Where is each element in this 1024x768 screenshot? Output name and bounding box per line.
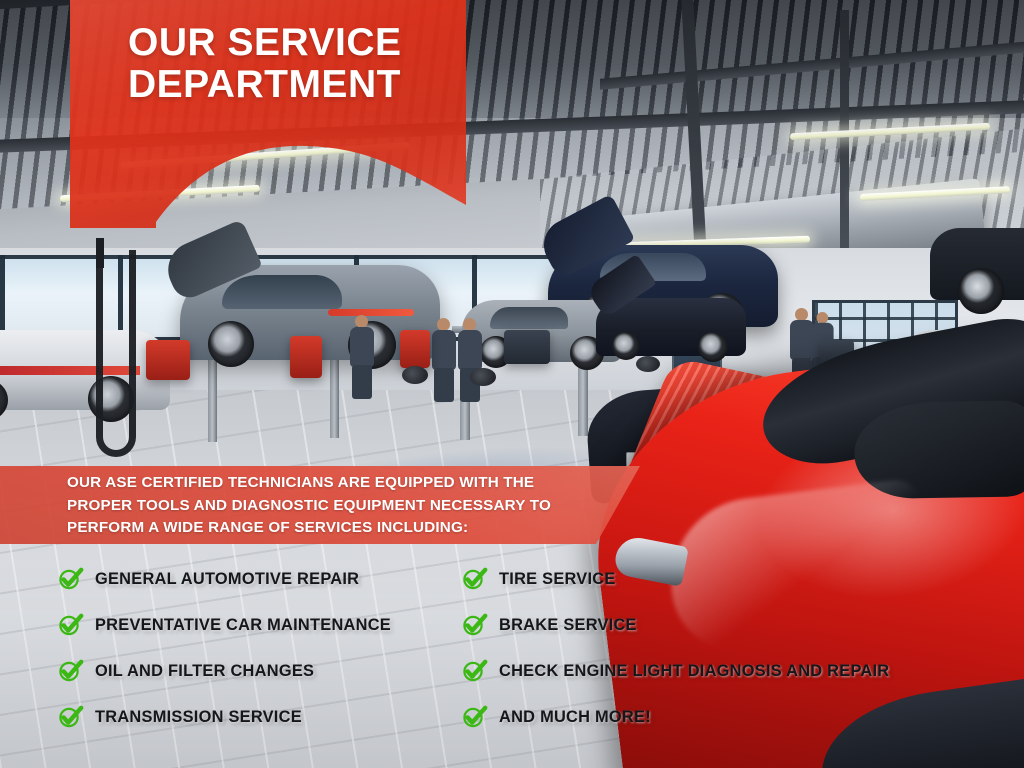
wheel bbox=[208, 321, 254, 367]
service-item: GENERAL AUTOMOTIVE REPAIR bbox=[58, 567, 462, 591]
service-item-label: TIRE SERVICE bbox=[499, 570, 616, 589]
service-item: PREVENTATIVE CAR MAINTENANCE bbox=[58, 613, 462, 637]
car-black-on-stand bbox=[930, 228, 1024, 300]
service-item-label: BRAKE SERVICE bbox=[499, 616, 637, 635]
check-circle-icon bbox=[58, 659, 84, 683]
service-item-label: GENERAL AUTOMOTIVE REPAIR bbox=[95, 570, 359, 589]
service-item-label: OIL AND FILTER CHANGES bbox=[95, 662, 314, 681]
car-window bbox=[490, 307, 568, 329]
check-circle-icon bbox=[58, 613, 84, 637]
car-black-wagon bbox=[596, 298, 746, 356]
service-item-label: CHECK ENGINE LIGHT DIAGNOSIS AND REPAIR bbox=[499, 662, 889, 681]
tail-light-bar bbox=[328, 309, 414, 316]
car-window bbox=[222, 275, 342, 309]
workbench bbox=[504, 330, 550, 364]
service-item-label: TRANSMISSION SERVICE bbox=[95, 708, 302, 727]
wheel bbox=[698, 332, 728, 362]
service-department-poster: EB 2Ω UA OUR SERVICE DEPARTMENT OUR ASE … bbox=[0, 0, 1024, 768]
service-item: BRAKE SERVICE bbox=[462, 613, 1008, 637]
service-item: AND MUCH MORE! bbox=[462, 705, 1008, 729]
page-title: OUR SERVICE DEPARTMENT bbox=[128, 22, 458, 106]
check-circle-icon bbox=[462, 705, 488, 729]
service-item-label: PREVENTATIVE CAR MAINTENANCE bbox=[95, 616, 391, 635]
services-list: GENERAL AUTOMOTIVE REPAIRTIRE SERVICEPRE… bbox=[58, 556, 1008, 746]
service-item: TRANSMISSION SERVICE bbox=[58, 705, 462, 729]
lift-post bbox=[330, 352, 339, 438]
lift-post bbox=[208, 352, 217, 442]
service-item: OIL AND FILTER CHANGES bbox=[58, 659, 462, 683]
exhaust-extraction-hose bbox=[96, 250, 136, 457]
check-circle-icon bbox=[58, 567, 84, 591]
check-circle-icon bbox=[462, 613, 488, 637]
service-item: TIRE SERVICE bbox=[462, 567, 1008, 591]
tire bbox=[402, 366, 428, 384]
wheel bbox=[958, 268, 1004, 314]
tool-cart bbox=[400, 330, 430, 368]
service-item: CHECK ENGINE LIGHT DIAGNOSIS AND REPAIR bbox=[462, 659, 1008, 683]
check-circle-icon bbox=[462, 659, 488, 683]
tool-cart bbox=[146, 340, 190, 380]
tire bbox=[470, 368, 496, 386]
description-text: OUR ASE CERTIFIED TECHNICIANS ARE EQUIPP… bbox=[67, 472, 627, 540]
wheel bbox=[612, 332, 640, 360]
tool-cart bbox=[290, 336, 322, 378]
car-white-classic bbox=[0, 330, 170, 410]
check-circle-icon bbox=[58, 705, 84, 729]
check-circle-icon bbox=[462, 567, 488, 591]
service-item-label: AND MUCH MORE! bbox=[499, 708, 651, 727]
tire bbox=[636, 356, 660, 372]
